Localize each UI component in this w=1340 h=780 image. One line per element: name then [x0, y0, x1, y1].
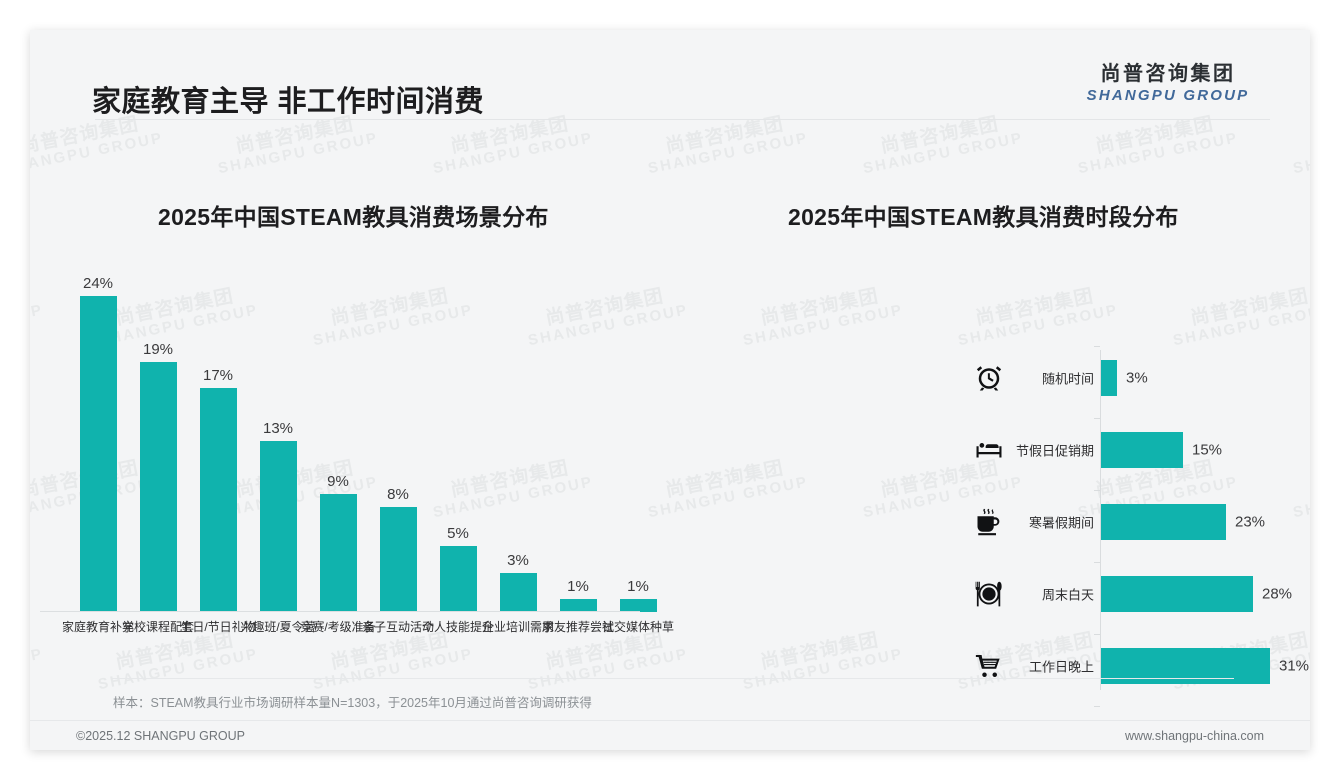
axis-tick: [1094, 418, 1100, 419]
bar-column: 3%: [488, 270, 548, 612]
bar-column: 8%: [368, 270, 428, 612]
footer-website: www.shangpu-china.com: [1125, 729, 1264, 743]
timeslot-value-label: 31%: [1279, 658, 1309, 675]
sample-note-text: 样本：STEAM教具行业市场调研样本量N=1303，于2025年10月通过尚普咨…: [113, 692, 592, 711]
scenario-bar-chart: 24%19%17%13%9%8%5%3%1%1% 家庭教育补充学校课程配套生日/…: [40, 270, 640, 670]
chart-title-scenario: 2025年中国STEAM教具消费场景分布: [158, 198, 549, 232]
slide-header: 家庭教育主导 非工作时间消费 尚普咨询集团 SHANGPU GROUP: [30, 30, 1310, 120]
timeslot-bar-chart: 随机时间3%节假日促销期15%寒暑假期间23%周末白天28%工作日晚上31%: [650, 270, 1310, 670]
timeslot-row: 周末白天28%: [650, 562, 1310, 626]
timeslot-row: 节假日促销期15%: [650, 418, 1310, 482]
bar-rect: [320, 494, 357, 612]
scenario-category-labels: 家庭教育补充学校课程配套生日/节日礼物兴趣班/夏令营竞赛/考级准备亲子互动活动个…: [40, 618, 660, 638]
timeslot-bar: [1101, 576, 1253, 612]
axis-tick: [1094, 562, 1100, 563]
bar-value-label: 24%: [68, 275, 128, 292]
timeslot-bar: [1101, 432, 1183, 468]
alarm-clock-icon: [972, 361, 1006, 395]
bar-rect: [80, 296, 117, 612]
bar-rect: [500, 573, 537, 612]
bar-column: 13%: [248, 270, 308, 612]
bar-value-label: 19%: [128, 341, 188, 358]
note-divider: [112, 678, 1234, 679]
slide-footer: ©2025.12 SHANGPU GROUP www.shangpu-china…: [30, 720, 1310, 750]
timeslot-row: 寒暑假期间23%: [650, 490, 1310, 554]
bar-rect: [380, 507, 417, 612]
slide-canvas: 尚普咨询集团SHANGPU GROUP尚普咨询集团SHANGPU GROUP尚普…: [30, 30, 1310, 750]
bar-value-label: 9%: [308, 473, 368, 490]
coffee-cup-icon: [972, 505, 1006, 539]
bar-rect: [260, 441, 297, 612]
header-divider: [95, 119, 1270, 120]
bar-rect: [440, 546, 477, 612]
brand-name-en: SHANGPU GROUP: [1068, 86, 1268, 106]
bar-value-label: 17%: [188, 367, 248, 384]
scenario-plot-area: 24%19%17%13%9%8%5%3%1%1%: [40, 270, 640, 612]
axis-tick: [1094, 634, 1100, 635]
brand-logo: 尚普咨询集团 SHANGPU GROUP: [1068, 63, 1268, 106]
bar-column: 1%: [548, 270, 608, 612]
timeslot-value-label: 23%: [1235, 514, 1265, 531]
chart-title-timeslot: 2025年中国STEAM教具消费时段分布: [788, 198, 1179, 232]
timeslot-label: 节假日促销期: [1010, 441, 1094, 460]
bar-value-label: 13%: [248, 420, 308, 437]
bar-value-label: 5%: [428, 525, 488, 542]
bar-column: 17%: [188, 270, 248, 612]
bar-column: 24%: [68, 270, 128, 612]
timeslot-value-label: 28%: [1262, 586, 1292, 603]
bar-rect: [140, 362, 177, 612]
dinner-plate-icon: [972, 577, 1006, 611]
timeslot-bar: [1101, 504, 1226, 540]
timeslot-label: 随机时间: [1010, 369, 1094, 388]
page-title: 家庭教育主导 非工作时间消费: [92, 78, 484, 120]
timeslot-value-label: 15%: [1192, 442, 1222, 459]
footer-copyright: ©2025.12 SHANGPU GROUP: [76, 729, 245, 743]
axis-tick: [1094, 490, 1100, 491]
timeslot-label: 周末白天: [1010, 585, 1094, 604]
bar-column: 5%: [428, 270, 488, 612]
bar-value-label: 3%: [488, 552, 548, 569]
bar-rect: [200, 388, 237, 612]
bar-column: 19%: [128, 270, 188, 612]
timeslot-label: 寒暑假期间: [1010, 513, 1094, 532]
bed-icon: [972, 433, 1006, 467]
bar-value-label: 1%: [548, 578, 608, 595]
timeslot-row: 随机时间3%: [650, 346, 1310, 410]
charts-region: 2025年中国STEAM教具消费场景分布 2025年中国STEAM教具消费时段分…: [30, 120, 1310, 680]
bar-value-label: 8%: [368, 486, 428, 503]
bar-column: 9%: [308, 270, 368, 612]
axis-tick: [1094, 346, 1100, 347]
timeslot-bar: [1101, 360, 1117, 396]
timeslot-label: 工作日晚上: [1010, 657, 1094, 676]
scenario-x-axis-line: [40, 611, 640, 612]
brand-name-cn: 尚普咨询集团: [1068, 63, 1268, 86]
sample-note-band: 样本：STEAM教具行业市场调研样本量N=1303，于2025年10月通过尚普咨…: [30, 678, 1310, 720]
timeslot-value-label: 3%: [1126, 370, 1148, 387]
